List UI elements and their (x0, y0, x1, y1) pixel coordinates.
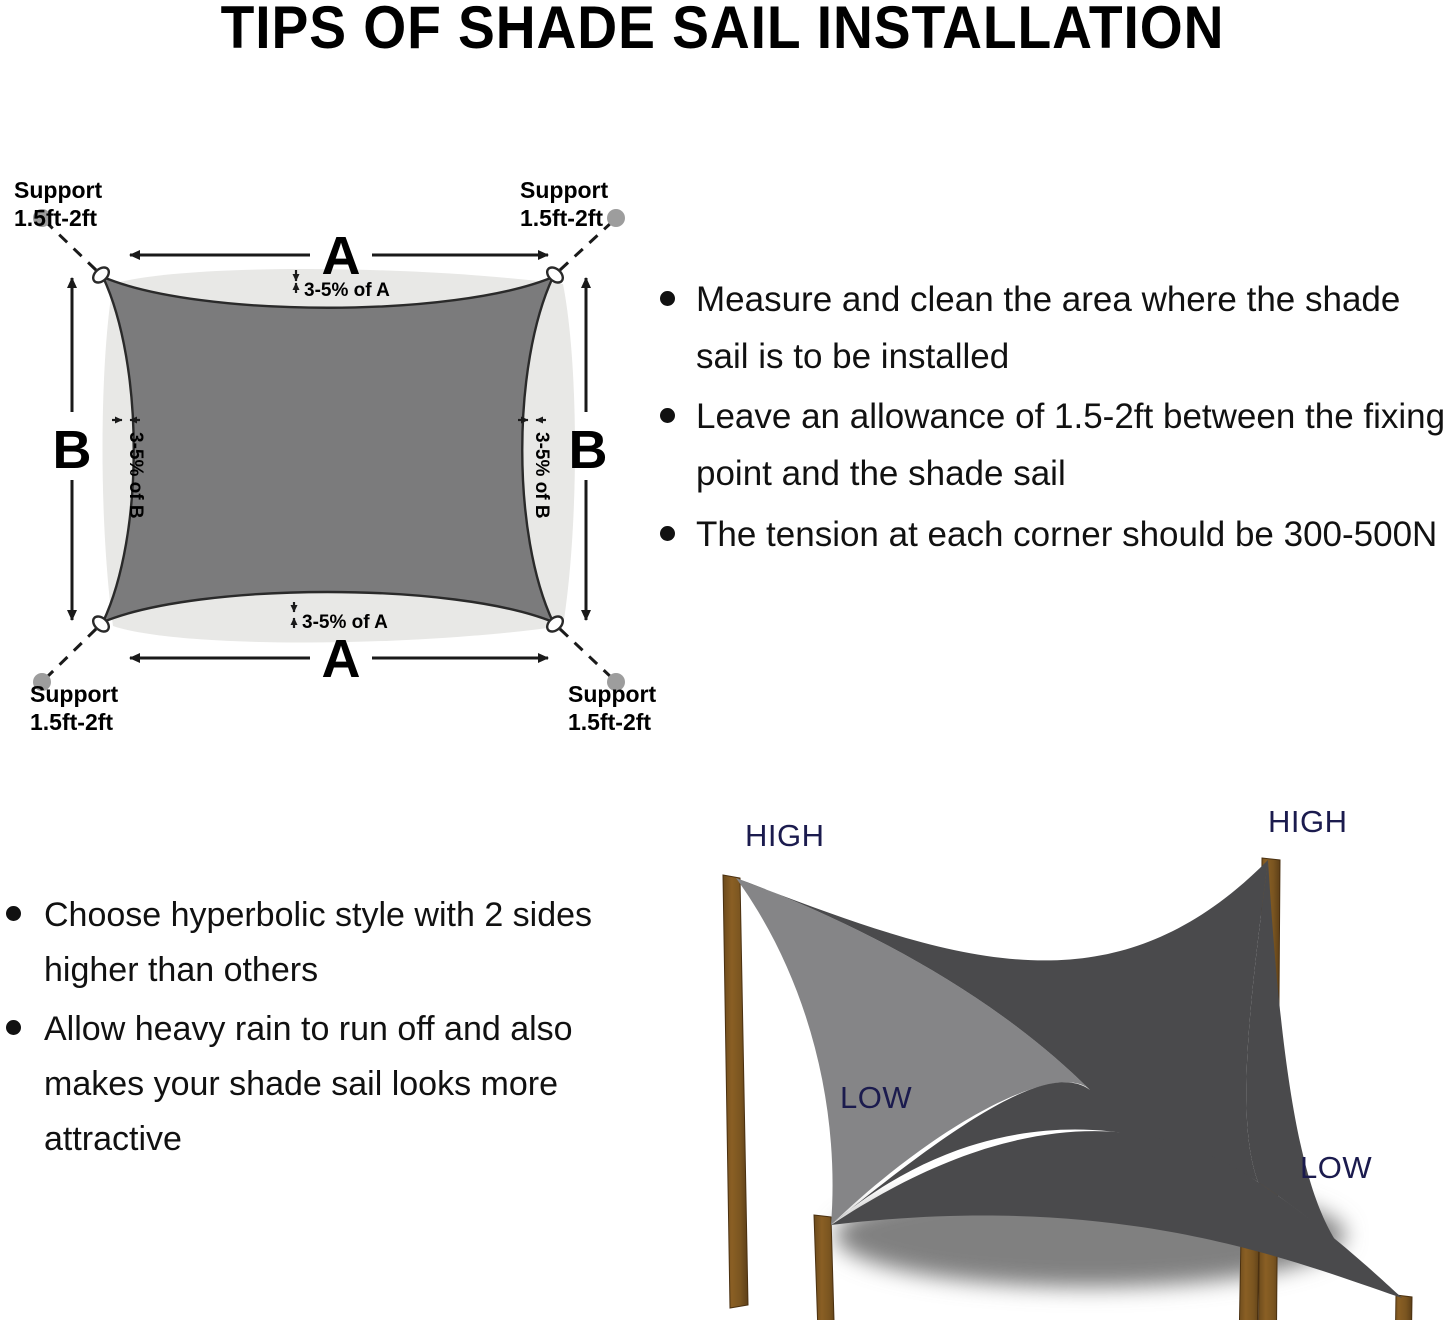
hyperbolic-tips-panel: Choose hyperbolic style with 2 sides hig… (0, 888, 630, 1171)
tip-text: Leave an allowance of 1.5-2ft between th… (696, 397, 1445, 493)
tip-item: Allow heavy rain to run off and also mak… (0, 1002, 630, 1167)
tip-text: Choose hyperbolic style with 2 sides hig… (44, 896, 592, 989)
tip-item: Choose hyperbolic style with 2 sides hig… (0, 888, 630, 998)
dimension-label-a-top: A (322, 226, 361, 286)
installation-tips-list: Measure and clean the area where the sha… (648, 272, 1445, 563)
rectangular-sail-diagram: A A B B 3-5% of A 3-5% of A 3-5% of B 3-… (0, 150, 660, 750)
dimension-label-b-left: B (53, 420, 92, 480)
page-title: TIPS OF SHADE SAIL INSTALLATION (58, 0, 1387, 59)
curvature-note-top: 3-5% of A (304, 280, 390, 301)
svg-text:1.5ft-2ft: 1.5ft-2ft (520, 205, 603, 231)
bullet-icon (660, 291, 675, 306)
dimension-label-b-right: B (569, 420, 608, 480)
svg-text:1.5ft-2ft: 1.5ft-2ft (14, 205, 97, 231)
post-high-left (723, 875, 748, 1308)
tip-text: The tension at each corner should be 300… (696, 515, 1437, 554)
svg-text:Support: Support (14, 177, 102, 203)
hyperbolic-tips-list: Choose hyperbolic style with 2 sides hig… (0, 888, 630, 1167)
post-label-low-left: LOW (840, 1080, 912, 1116)
hyperbolic-sail-illustration: HIGH HIGH LOW LOW (690, 790, 1445, 1320)
post-low-right (1392, 1295, 1412, 1320)
tip-item: Measure and clean the area where the sha… (648, 272, 1445, 385)
bullet-icon (660, 408, 675, 423)
installation-tips-panel: Measure and clean the area where the sha… (648, 272, 1445, 567)
svg-text:Support: Support (568, 681, 656, 707)
tip-item: Leave an allowance of 1.5-2ft between th… (648, 389, 1445, 502)
bullet-icon (660, 526, 675, 541)
shade-sail-body (103, 277, 553, 622)
svg-text:1.5ft-2ft: 1.5ft-2ft (30, 709, 113, 735)
tip-item: The tension at each corner should be 300… (648, 507, 1445, 564)
dimension-label-a-bottom: A (322, 629, 361, 689)
post-label-high-left: HIGH (745, 818, 825, 854)
curvature-note-bottom: 3-5% of A (302, 612, 388, 633)
tip-text: Allow heavy rain to run off and also mak… (44, 1010, 573, 1158)
post-label-high-right: HIGH (1268, 804, 1348, 840)
post-label-low-right: LOW (1300, 1150, 1372, 1186)
curvature-note-right: 3-5% of B (531, 432, 552, 519)
tip-text: Measure and clean the area where the sha… (696, 280, 1400, 376)
post-low-left (814, 1215, 836, 1320)
svg-text:1.5ft-2ft: 1.5ft-2ft (568, 709, 651, 735)
svg-text:Support: Support (30, 681, 118, 707)
bullet-icon (6, 906, 21, 921)
svg-text:Support: Support (520, 177, 608, 203)
curvature-note-left: 3-5% of B (125, 432, 146, 519)
bullet-icon (6, 1020, 21, 1035)
